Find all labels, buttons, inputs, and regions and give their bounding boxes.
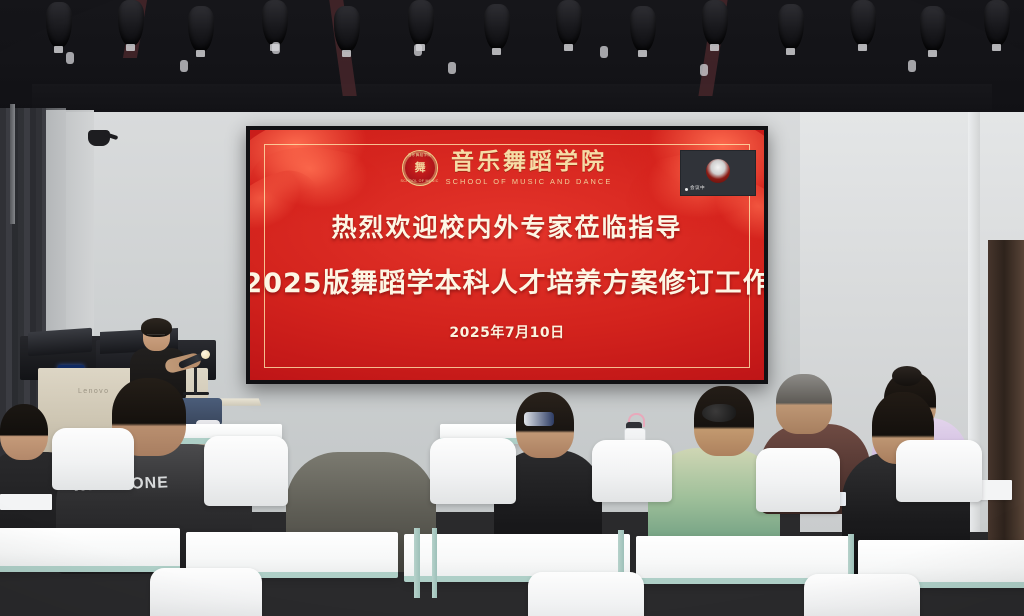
chair	[592, 440, 672, 502]
chair	[756, 448, 840, 512]
desk	[0, 528, 180, 572]
stage-light-icon	[484, 4, 510, 50]
ceiling-camera-icon	[88, 130, 110, 146]
chair	[52, 428, 134, 490]
stage-light-icon	[702, 0, 728, 46]
school-logo: 音乐舞蹈学院 舞 SCHOOL OF MUSIC 音乐舞蹈学院 SCHOOL O…	[402, 150, 613, 186]
participant-avatar	[706, 159, 730, 183]
microphone-stand-pole	[194, 368, 197, 394]
chair	[896, 440, 982, 502]
seal-arc-top: 音乐舞蹈学院	[408, 153, 431, 158]
school-name-cn: 音乐舞蹈学院	[451, 150, 607, 174]
control-monitor	[28, 328, 92, 356]
wall-pipe	[10, 104, 15, 224]
chair	[528, 572, 644, 616]
spot-light-icon	[272, 42, 280, 54]
person-head	[0, 404, 48, 460]
hair-bun	[892, 366, 922, 386]
spot-light-icon	[180, 60, 188, 72]
lecture-hall-photo: 音乐舞蹈学院 舞 SCHOOL OF MUSIC 音乐舞蹈学院 SCHOOL O…	[0, 0, 1024, 616]
spot-light-icon	[908, 60, 916, 72]
seal-monogram: 舞	[415, 163, 425, 174]
banner-headline: 热烈欢迎校内外专家莅临指导	[331, 208, 682, 244]
video-conference-window[interactable]: 会议中	[680, 150, 756, 196]
glasses-icon	[147, 334, 165, 339]
spot-light-icon	[700, 64, 708, 76]
stage-light-icon	[778, 4, 804, 50]
chair	[150, 568, 262, 616]
hair-bow	[702, 404, 736, 422]
desk-leg	[432, 528, 437, 598]
stage-light-icon	[188, 6, 214, 52]
stage-light-icon	[984, 0, 1010, 46]
school-name-en: SCHOOL OF MUSIC AND DANCE	[446, 177, 613, 186]
banner-subline: 2025版舞蹈学本科人才培养方案修订工作	[250, 261, 764, 300]
microphone-head	[201, 350, 210, 359]
stage-light-icon	[630, 6, 656, 52]
led-banner-screen: 音乐舞蹈学院 舞 SCHOOL OF MUSIC 音乐舞蹈学院 SCHOOL O…	[250, 130, 764, 380]
person-head	[776, 374, 832, 434]
stage-light-icon	[262, 0, 288, 46]
stage-light-icon	[850, 0, 876, 46]
spot-light-icon	[600, 46, 608, 58]
desk-leg	[414, 528, 420, 598]
chair	[430, 438, 516, 504]
spot-light-icon	[414, 44, 422, 56]
seal-arc-bottom: SCHOOL OF MUSIC	[401, 179, 439, 183]
video-participant-label: 会议中	[690, 185, 705, 191]
spot-light-icon	[448, 62, 456, 74]
chair	[804, 574, 920, 616]
stage-light-icon	[334, 6, 360, 52]
lighting-truss	[0, 0, 1024, 96]
stage-light-icon	[408, 0, 434, 46]
banner-date: 2025年7月10日	[449, 322, 564, 342]
spot-light-icon	[66, 52, 74, 64]
person-head	[326, 382, 396, 462]
podium-brand-label: Lenovo	[78, 388, 109, 395]
mic-status-icon	[685, 188, 688, 191]
stage-light-icon	[556, 0, 582, 46]
chair	[204, 436, 288, 506]
stage-light-icon	[920, 6, 946, 52]
hair-clip	[524, 412, 554, 426]
handout-papers	[0, 494, 52, 510]
school-seal-icon: 音乐舞蹈学院 舞 SCHOOL OF MUSIC	[402, 150, 438, 186]
stage-light-icon	[46, 2, 72, 48]
